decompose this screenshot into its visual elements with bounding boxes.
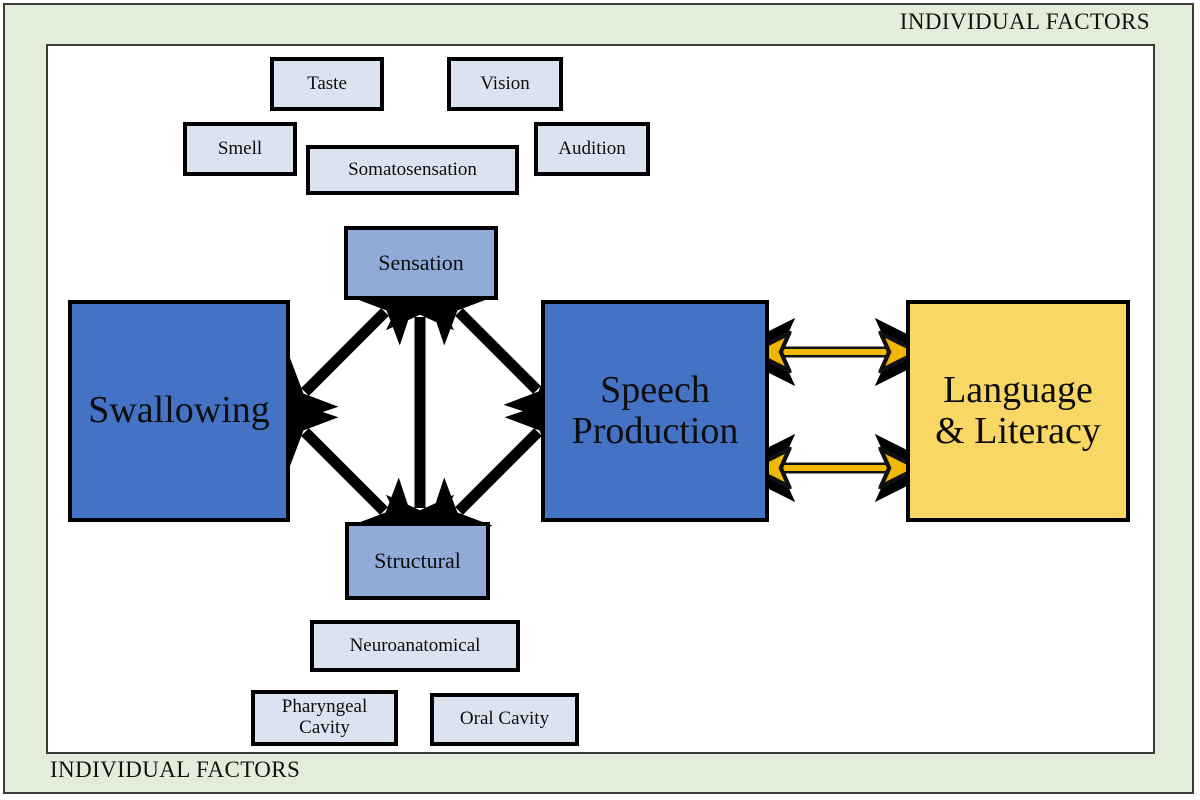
- node-audition[interactable]: Audition: [534, 122, 650, 176]
- node-speech-production[interactable]: Speech Production: [541, 300, 769, 522]
- node-language-literacy[interactable]: Language & Literacy: [906, 300, 1130, 522]
- individual-factors-label-bottom: INDIVIDUAL FACTORS: [50, 757, 300, 783]
- node-neuroanatomical[interactable]: Neuroanatomical: [310, 620, 520, 672]
- node-smell[interactable]: Smell: [183, 122, 297, 176]
- node-sensation[interactable]: Sensation: [344, 226, 498, 300]
- diagram-canvas: INDIVIDUAL FACTORS INDIVIDUAL FACTORS: [0, 0, 1200, 800]
- node-somatosensation[interactable]: Somatosensation: [306, 145, 519, 195]
- node-pharyngeal-cavity[interactable]: Pharyngeal Cavity: [251, 690, 398, 746]
- individual-factors-label-top: INDIVIDUAL FACTORS: [900, 9, 1150, 35]
- node-oral-cavity[interactable]: Oral Cavity: [430, 693, 579, 746]
- node-structural[interactable]: Structural: [345, 522, 490, 600]
- node-taste[interactable]: Taste: [270, 57, 384, 111]
- node-swallowing[interactable]: Swallowing: [68, 300, 290, 522]
- node-vision[interactable]: Vision: [447, 57, 563, 111]
